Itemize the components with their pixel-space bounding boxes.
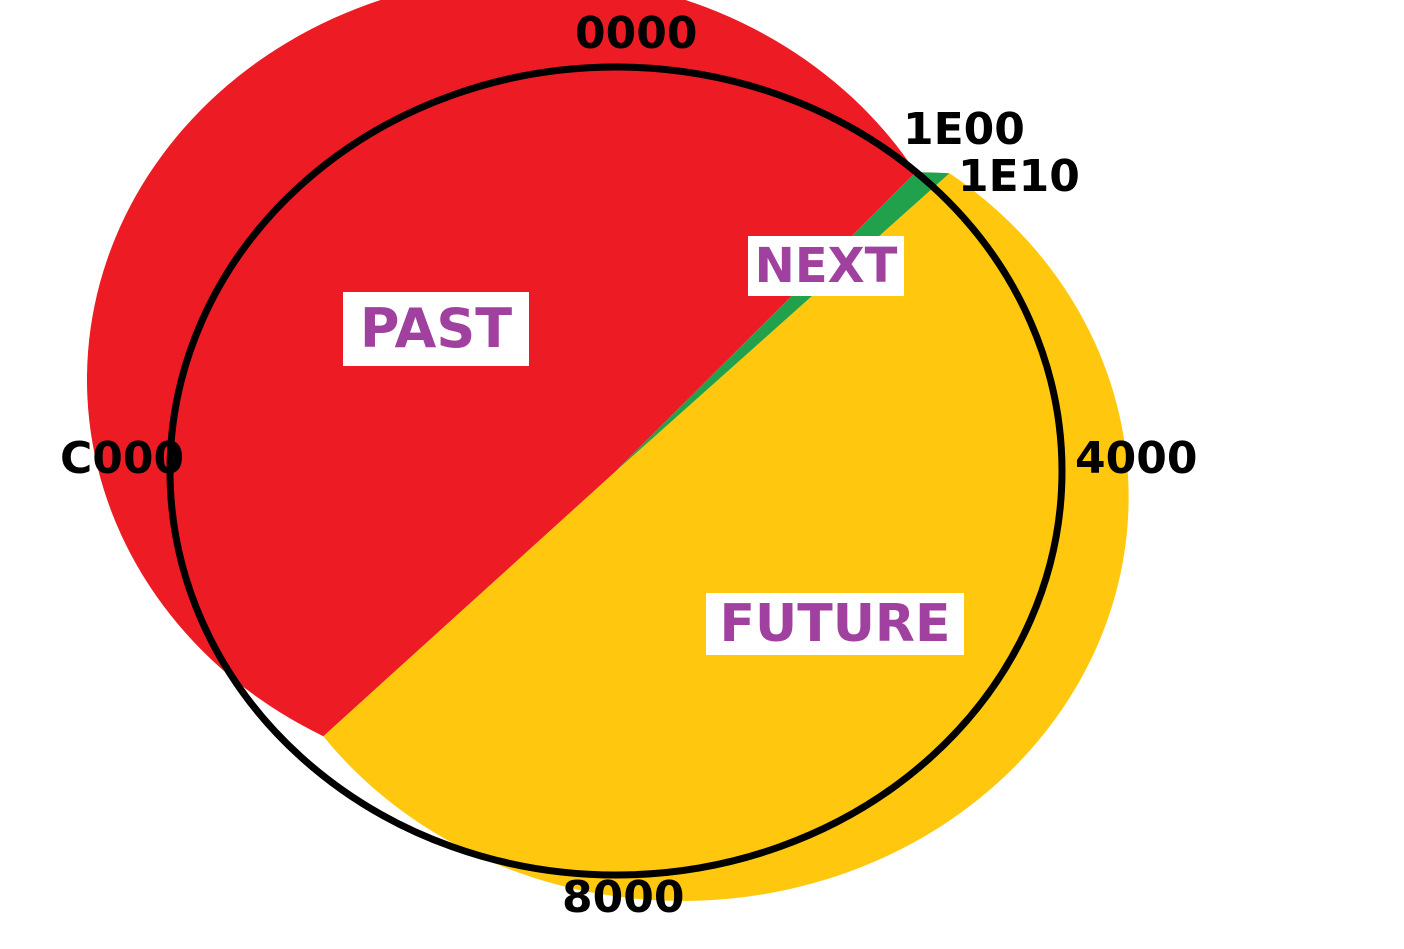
tick-label-4000: 4000 <box>1075 437 1197 481</box>
tick-label-1e10: 1E10 <box>958 155 1080 199</box>
region-label-future: FUTURE <box>706 593 964 655</box>
region-label-past: PAST <box>343 292 529 366</box>
tick-label-8000: 8000 <box>562 876 684 920</box>
diagram-canvas: 0000 1E00 1E10 4000 8000 C000 PAST NEXT … <box>0 0 1404 949</box>
tick-label-c000: C000 <box>60 437 184 481</box>
tick-label-1e00: 1E00 <box>903 108 1025 152</box>
region-label-next: NEXT <box>748 236 904 296</box>
tick-label-0000: 0000 <box>575 12 697 56</box>
